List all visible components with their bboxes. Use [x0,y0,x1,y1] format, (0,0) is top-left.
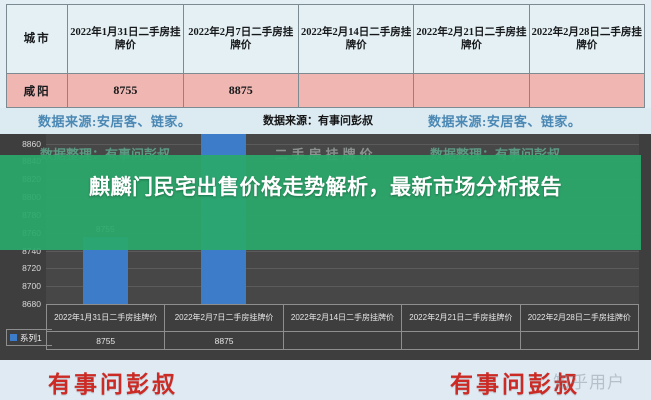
price-table: 城市 2022年1月31日二手房挂牌价 2022年2月7日二手房挂牌价 2022… [6,4,645,108]
source-watermark-left: 数据来源:安居客、链家。 [38,111,191,130]
table-header-row: 城市 2022年1月31日二手房挂牌价 2022年2月7日二手房挂牌价 2022… [7,5,645,74]
chart-value-3 [283,332,401,350]
legend-swatch-icon [10,334,17,341]
chart-col-header-5: 2022年2月28日二手房挂牌价 [520,305,638,332]
chart-col-header-1: 2022年1月31日二手房挂牌价 [47,305,165,332]
chart-gridline [46,268,639,269]
column-header-date-2: 2022年2月7日二手房挂牌价 [183,5,298,74]
chart-gridline [46,286,639,287]
chart-gridline [46,251,639,252]
column-header-date-5: 2022年2月28日二手房挂牌价 [529,5,644,74]
legend-label: 系列1 [20,332,42,344]
cell-price-2: 8875 [183,74,298,108]
chart-table-values-row: 8755 8875 [47,332,639,350]
source-watermark-right: 数据来源:安居客、链家。 [428,111,581,130]
chart-value-5 [520,332,638,350]
column-header-date-1: 2022年1月31日二手房挂牌价 [68,5,183,74]
bottom-watermark-left: 有事问彭叔 [48,365,178,399]
chart-y-tick-label: 8680 [22,299,41,309]
chart-value-1: 8755 [47,332,165,350]
cell-price-5 [529,74,644,108]
chart-col-header-2: 2022年2月7日二手房挂牌价 [165,305,283,332]
chart-value-2: 8875 [165,332,283,350]
table-row: 咸阳 8755 8875 [7,74,645,108]
price-table-body: 咸阳 8755 8875 [7,74,645,108]
chart-y-tick-label: 8720 [22,263,41,273]
page-title: 麒麟门民宅出售价格走势解析，最新市场分析报告 [0,172,651,203]
column-header-date-3: 2022年2月14日二手房挂牌价 [298,5,413,74]
screenshot-root: 城市 2022年1月31日二手房挂牌价 2022年2月7日二手房挂牌价 2022… [0,0,651,400]
price-table-head: 城市 2022年1月31日二手房挂牌价 2022年2月7日二手房挂牌价 2022… [7,5,645,74]
cell-price-3 [298,74,413,108]
bottom-watermark-zone: 有事问彭叔 有事问彭叔 知乎用户 [0,360,651,400]
source-watermark-center: 数据来源：有事问彭叔 [263,112,373,128]
chart-legend: 系列1 [6,329,52,346]
column-header-date-4: 2022年2月21日二手房挂牌价 [414,5,529,74]
cell-price-1: 8755 [68,74,183,108]
column-header-city: 城市 [7,5,68,74]
zhihu-watermark: 知乎用户 [553,368,625,393]
cell-city: 咸阳 [7,74,68,108]
chart-y-tick-label: 8700 [22,281,41,291]
chart-data-table: 2022年1月31日二手房挂牌价 2022年2月7日二手房挂牌价 2022年2月… [46,304,639,350]
price-table-container: 城市 2022年1月31日二手房挂牌价 2022年2月7日二手房挂牌价 2022… [0,0,651,108]
chart-col-header-3: 2022年2月14日二手房挂牌价 [283,305,401,332]
chart-col-header-4: 2022年2月21日二手房挂牌价 [402,305,520,332]
chart-value-4 [402,332,520,350]
source-watermark-band: 数据来源:安居客、链家。 数据来源：有事问彭叔 数据来源:安居客、链家。 [0,108,651,134]
cell-price-4 [414,74,529,108]
chart-table-header-row: 2022年1月31日二手房挂牌价 2022年2月7日二手房挂牌价 2022年2月… [47,305,639,332]
